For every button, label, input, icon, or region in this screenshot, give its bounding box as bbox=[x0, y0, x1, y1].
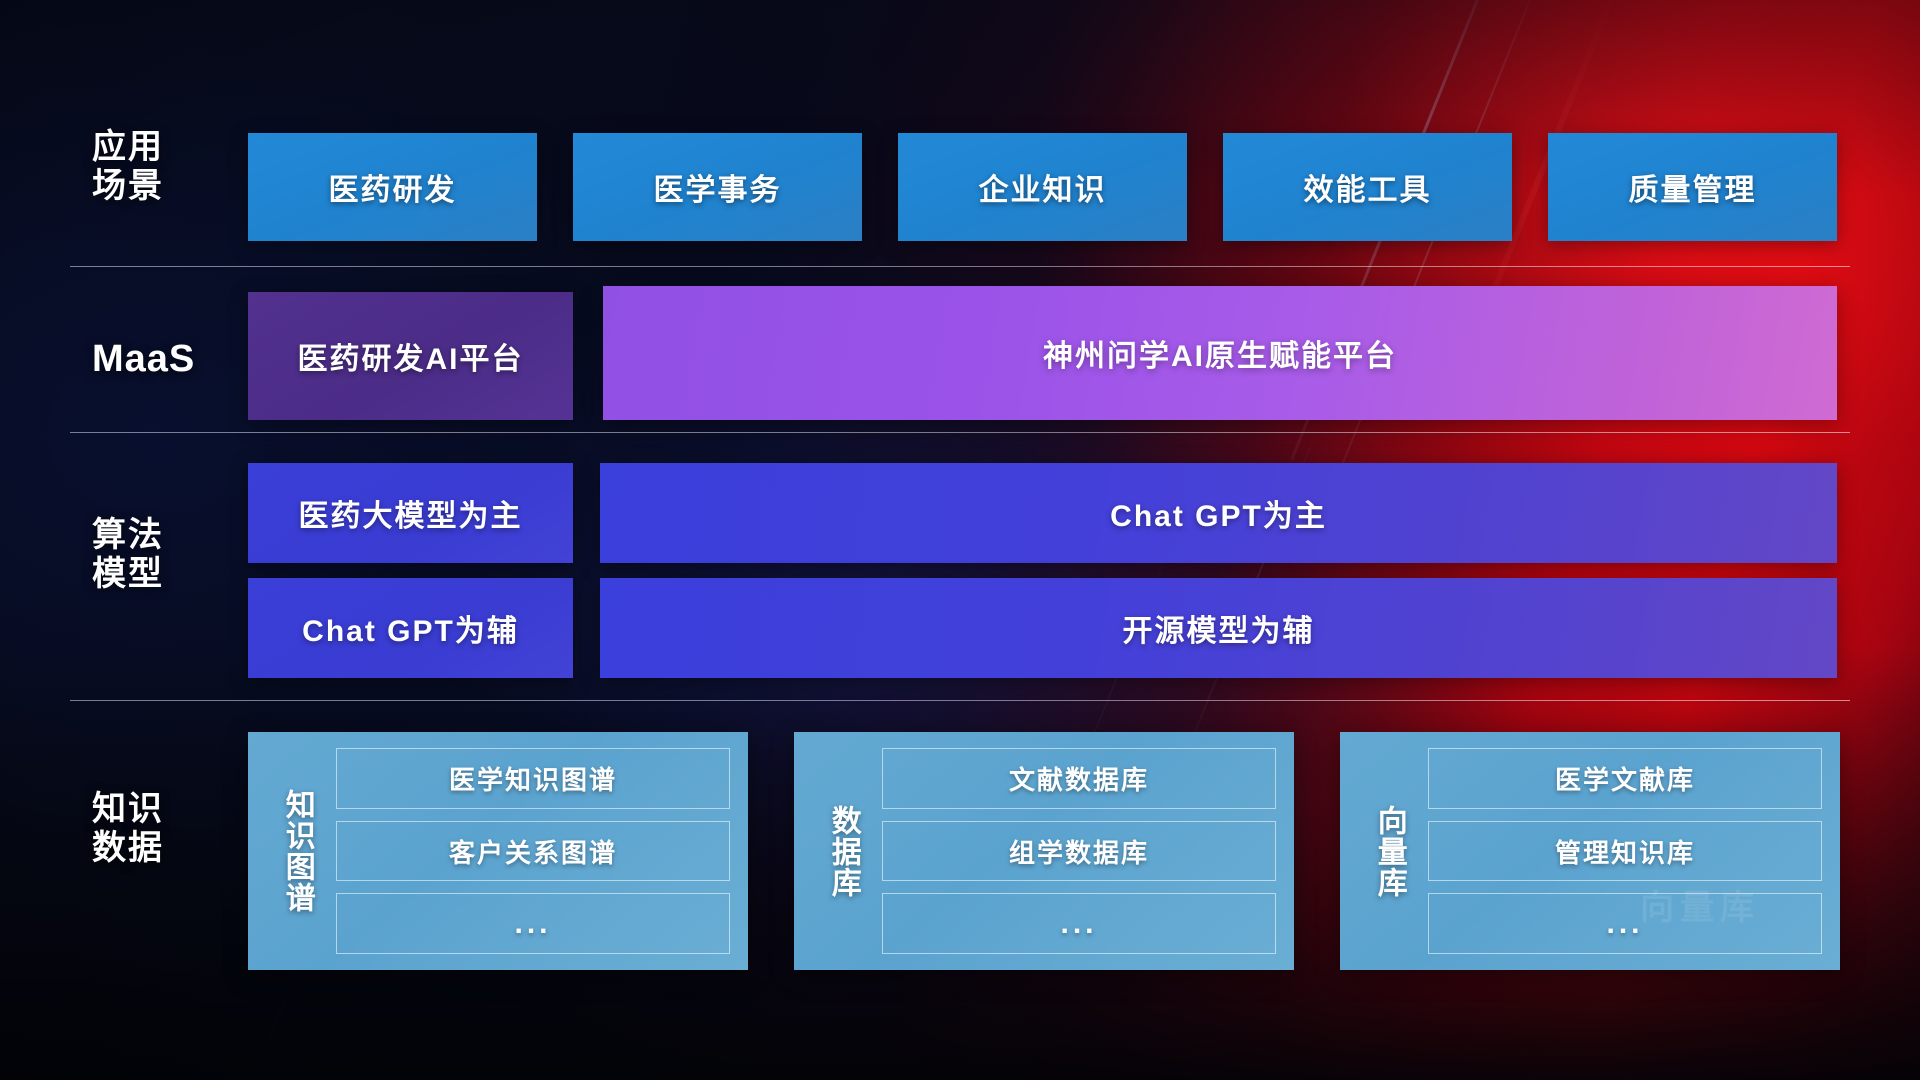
knowledge-card-items-knowledge-graph: 医学知识图谱 客户关系图谱 ... bbox=[328, 748, 730, 954]
knowledge-card-database[interactable]: 数据库 文献数据库 组学数据库 ... bbox=[794, 732, 1294, 970]
knowledge-item[interactable]: 医学知识图谱 bbox=[336, 748, 730, 809]
knowledge-card-title-vector-store: 向量库 bbox=[1358, 748, 1420, 954]
maas-enablement-platform-banner[interactable]: 神州问学AI原生赋能平台 bbox=[603, 286, 1837, 420]
app-scenario-label-2: 医学事务 bbox=[654, 165, 782, 209]
divider-3 bbox=[70, 700, 1850, 701]
divider-1 bbox=[70, 266, 1850, 267]
row-label-algorithm-models: 算法 模型 bbox=[92, 516, 272, 595]
knowledge-item[interactable]: 组学数据库 bbox=[882, 821, 1276, 882]
app-scenario-box-4[interactable]: 效能工具 bbox=[1223, 133, 1512, 241]
app-scenario-box-2[interactable]: 医学事务 bbox=[573, 133, 862, 241]
knowledge-item[interactable]: 管理知识库 bbox=[1428, 821, 1822, 882]
algo-box-secondary-left[interactable]: Chat GPT为辅 bbox=[248, 578, 573, 678]
maas-enablement-platform-label: 神州问学AI原生赋能平台 bbox=[1043, 331, 1397, 375]
divider-2 bbox=[70, 432, 1850, 433]
row-label-knowledge-data: 知识 数据 bbox=[92, 790, 272, 869]
knowledge-item-more[interactable]: ... bbox=[336, 893, 730, 954]
knowledge-card-title-knowledge-graph: 知识图谱 bbox=[266, 748, 328, 954]
knowledge-item[interactable]: 文献数据库 bbox=[882, 748, 1276, 809]
algo-label-primary-left: 医药大模型为主 bbox=[299, 491, 523, 535]
algo-label-secondary-left: Chat GPT为辅 bbox=[302, 606, 519, 650]
knowledge-card-knowledge-graph[interactable]: 知识图谱 医学知识图谱 客户关系图谱 ... bbox=[248, 732, 748, 970]
knowledge-card-items-database: 文献数据库 组学数据库 ... bbox=[874, 748, 1276, 954]
knowledge-item-more[interactable]: ... bbox=[1428, 893, 1822, 954]
maas-platform-label: 医药研发AI平台 bbox=[298, 334, 524, 378]
app-scenario-label-1: 医药研发 bbox=[329, 165, 457, 209]
algo-box-primary-left[interactable]: 医药大模型为主 bbox=[248, 463, 573, 563]
app-scenario-box-3[interactable]: 企业知识 bbox=[898, 133, 1187, 241]
maas-platform-box[interactable]: 医药研发AI平台 bbox=[248, 292, 573, 420]
row-label-application-scenarios: 应用 场景 bbox=[92, 128, 272, 207]
algo-label-primary-right: Chat GPT为主 bbox=[1110, 491, 1327, 535]
knowledge-item[interactable]: 客户关系图谱 bbox=[336, 821, 730, 882]
app-scenario-box-1[interactable]: 医药研发 bbox=[248, 133, 537, 241]
knowledge-item[interactable]: 医学文献库 bbox=[1428, 748, 1822, 809]
algo-box-primary-right[interactable]: Chat GPT为主 bbox=[600, 463, 1837, 563]
app-scenario-box-5[interactable]: 质量管理 bbox=[1548, 133, 1837, 241]
knowledge-item-more[interactable]: ... bbox=[882, 893, 1276, 954]
algo-label-secondary-right: 开源模型为辅 bbox=[1123, 606, 1315, 650]
app-scenario-label-5: 质量管理 bbox=[1629, 165, 1757, 209]
knowledge-card-items-vector-store: 医学文献库 管理知识库 ... bbox=[1420, 748, 1822, 954]
knowledge-card-title-database: 数据库 bbox=[812, 748, 874, 954]
knowledge-card-vector-store[interactable]: 向量库 医学文献库 管理知识库 ... bbox=[1340, 732, 1840, 970]
app-scenario-label-3: 企业知识 bbox=[979, 165, 1107, 209]
app-scenario-label-4: 效能工具 bbox=[1304, 165, 1432, 209]
algo-box-secondary-right[interactable]: 开源模型为辅 bbox=[600, 578, 1837, 678]
